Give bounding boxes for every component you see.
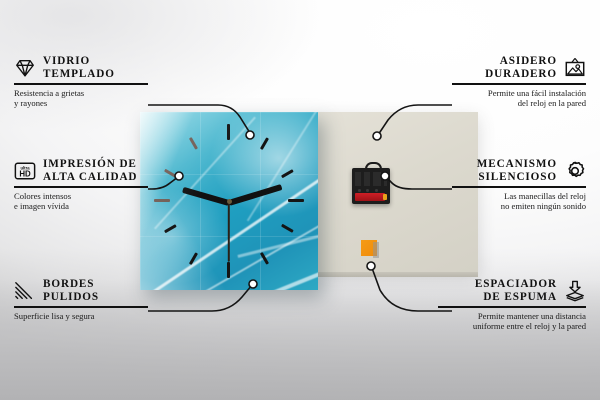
- foam-spacer-icon: [564, 280, 586, 302]
- callout-title-line1: ASIDERO: [485, 55, 557, 68]
- callout-description: Resistencia a grietas y rayones: [14, 88, 148, 109]
- framed-picture-hanger-icon: [564, 57, 586, 79]
- callout-header: BORDES PULIDOS: [14, 278, 148, 303]
- hour-tick-6: [227, 262, 230, 278]
- callout-title-line2: SILENCIOSO: [477, 171, 557, 184]
- mechanism-battery: [355, 193, 385, 201]
- callout-bordes-pulidos[interactable]: BORDES PULIDOS Superficie lisa y segura: [14, 278, 148, 321]
- wall-clock: [140, 112, 318, 290]
- callout-title-line1: VIDRIO: [43, 55, 115, 68]
- callout-title-line2: DE ESPUMA: [475, 291, 557, 304]
- callout-description: Las manecillas del reloj no emiten ningú…: [452, 191, 586, 212]
- gear-icon: [564, 160, 586, 182]
- callout-description: Permite mantener una distancia uniforme …: [438, 311, 586, 332]
- callout-header: VIDRIO TEMPLADO: [14, 55, 148, 80]
- callout-title-line1: BORDES: [43, 278, 99, 291]
- hour-tick-9: [154, 199, 170, 202]
- callout-rule: [14, 306, 148, 308]
- callout-impresion-alta-calidad[interactable]: ultra HD IMPRESIÓN DE ALTA CALIDAD Color…: [14, 158, 148, 212]
- callout-rule: [14, 186, 148, 188]
- callout-description: Superficie lisa y segura: [14, 311, 148, 322]
- callout-title-line2: TEMPLADO: [43, 68, 115, 81]
- callout-mecanismo-silencioso[interactable]: MECANISMO SILENCIOSO Las manecillas del …: [452, 158, 586, 212]
- callout-title-line1: IMPRESIÓN DE: [43, 158, 137, 171]
- mechanism-dot: [366, 189, 369, 192]
- callout-description: Permite una fácil instalación del reloj …: [452, 88, 586, 109]
- polished-edges-icon: [14, 280, 36, 302]
- ultra-hd-large-label: HD: [19, 169, 31, 178]
- callout-rule: [14, 83, 148, 85]
- callout-title-line2: DURADERO: [485, 68, 557, 81]
- callout-vidrio-templado[interactable]: VIDRIO TEMPLADO Resistencia a grietas y …: [14, 55, 148, 109]
- callout-header: ESPACIADOR DE ESPUMA: [438, 278, 586, 303]
- hour-tick-12: [227, 124, 230, 140]
- mechanism-dot: [358, 189, 361, 192]
- infographic-canvas: VIDRIO TEMPLADO Resistencia a grietas y …: [0, 0, 600, 400]
- callout-rule: [452, 83, 586, 85]
- foam-spacer-pad: [361, 240, 377, 256]
- callout-rule: [452, 186, 586, 188]
- callout-title-line1: ESPACIADOR: [475, 278, 557, 291]
- ultra-hd-icon: ultra HD: [14, 160, 36, 182]
- callout-title-line2: ALTA CALIDAD: [43, 171, 137, 184]
- mechanism-dot: [375, 189, 378, 192]
- callout-title-line1: MECANISMO: [477, 158, 557, 171]
- clock-hands-hub: [227, 199, 232, 204]
- callout-description: Colores intensos e imagen vívida: [14, 191, 148, 212]
- callout-title-line2: PULIDOS: [43, 291, 99, 304]
- second-hand: [228, 202, 230, 262]
- mechanism-body: [352, 168, 390, 204]
- clock-mechanism: [352, 168, 390, 204]
- callout-asidero-duradero[interactable]: ASIDERO DURADERO Permite una fácil insta…: [452, 55, 586, 109]
- callout-header: ultra HD IMPRESIÓN DE ALTA CALIDAD: [14, 158, 148, 183]
- callout-espaciador-de-espuma[interactable]: ESPACIADOR DE ESPUMA Permite mantener un…: [438, 278, 586, 332]
- callout-header: MECANISMO SILENCIOSO: [452, 158, 586, 183]
- mechanism-housing-detail: [355, 172, 387, 186]
- diamond-icon: [14, 57, 36, 79]
- hour-tick-3: [288, 199, 304, 202]
- callout-header: ASIDERO DURADERO: [452, 55, 586, 80]
- callout-rule: [438, 306, 586, 308]
